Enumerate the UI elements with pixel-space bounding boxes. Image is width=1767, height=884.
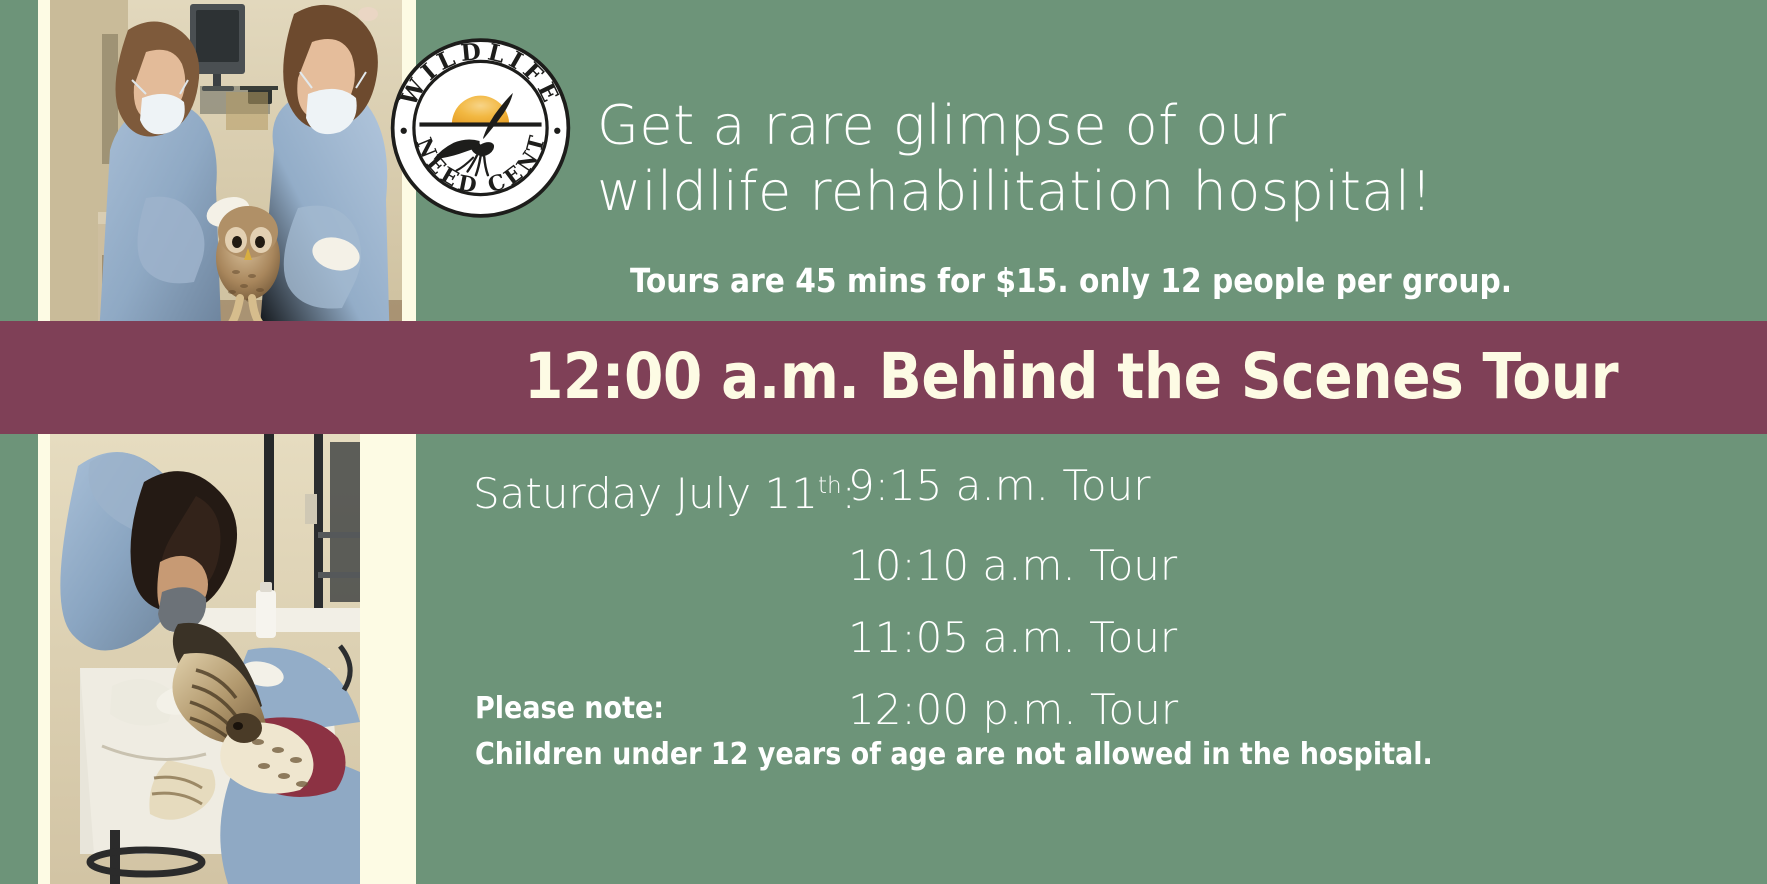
please-note-block: Please note: Children under 12 years of … — [475, 686, 1675, 778]
photo-hawk-exam — [50, 432, 360, 884]
headline: Get a rare glimpse of our wildlife rehab… — [597, 93, 1757, 225]
headline-line-1: Get a rare glimpse of our — [597, 93, 1757, 159]
banner-title: 12:00 a.m. Behind the Scenes Tour — [375, 341, 1767, 413]
schedule-time-3: 11:05 a.m. Tour — [848, 602, 1178, 674]
schedule-row: 11:05 a.m. Tour — [473, 602, 1273, 674]
schedule-row: Saturday July 11th: 9:15 a.m. Tour — [473, 450, 1273, 530]
wildlife-in-need-center-logo: WILDLIFE IN NEED CENTER — [388, 28, 573, 228]
schedule-date-ordinal: th — [818, 473, 842, 499]
schedule-date-label: Saturday July 11th: — [473, 450, 848, 530]
content-column: WILDLIFE IN NEED CENTER Get a rare glimp… — [375, 0, 1767, 884]
schedule-time-1: 9:15 a.m. Tour — [848, 450, 1178, 530]
please-note-heading: Please note: — [475, 686, 1675, 732]
schedule-time-2: 10:10 a.m. Tour — [848, 530, 1178, 602]
schedule-date-text: Saturday July 11 — [473, 469, 818, 518]
tour-details-subline: Tours are 45 mins for $15. only 12 peopl… — [375, 261, 1767, 300]
highlight-banner-bar-left-edge — [0, 321, 38, 434]
headline-line-2: wildlife rehabilitation hospital! — [597, 159, 1757, 225]
please-note-body: Children under 12 years of age are not a… — [475, 732, 1675, 778]
photo-owl-exam — [50, 0, 402, 352]
schedule-row: 10:10 a.m. Tour — [473, 530, 1273, 602]
